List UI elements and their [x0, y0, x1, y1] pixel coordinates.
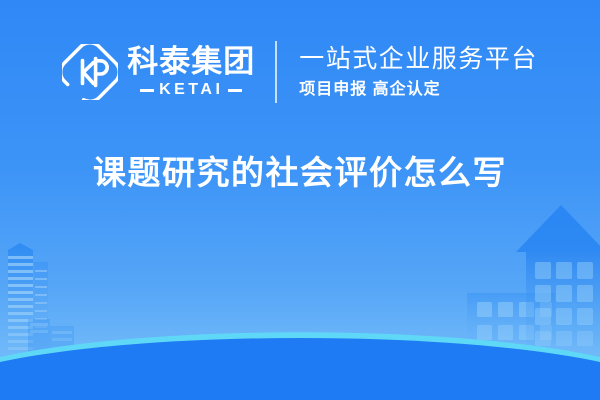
- brand-name-en: KETAI: [159, 82, 223, 98]
- wordmark-rule-right: [228, 89, 242, 92]
- brand-name-cn: 科泰集团: [127, 46, 255, 79]
- tagline-block: 一站式企业服务平台 项目申报 高企认定: [277, 45, 538, 100]
- brand-name-en-row: KETAI: [127, 82, 255, 98]
- banner-header: 科泰集团 KETAI 一站式企业服务平台 项目申报 高企认定: [0, 34, 600, 110]
- page-title: 课题研究的社会评价怎么写: [0, 152, 600, 193]
- promo-banner: 科泰集团 KETAI 一站式企业服务平台 项目申报 高企认定 课题研究的社会评价…: [0, 0, 600, 400]
- brand-logo[interactable]: 科泰集团 KETAI: [62, 44, 275, 100]
- ketai-diamond-kp-logo-icon: [62, 44, 118, 100]
- brand-wordmark: 科泰集团 KETAI: [127, 46, 255, 99]
- wordmark-rule-left: [140, 89, 154, 92]
- tagline-secondary: 项目申报 高企认定: [299, 80, 538, 99]
- tagline-primary: 一站式企业服务平台: [299, 45, 538, 74]
